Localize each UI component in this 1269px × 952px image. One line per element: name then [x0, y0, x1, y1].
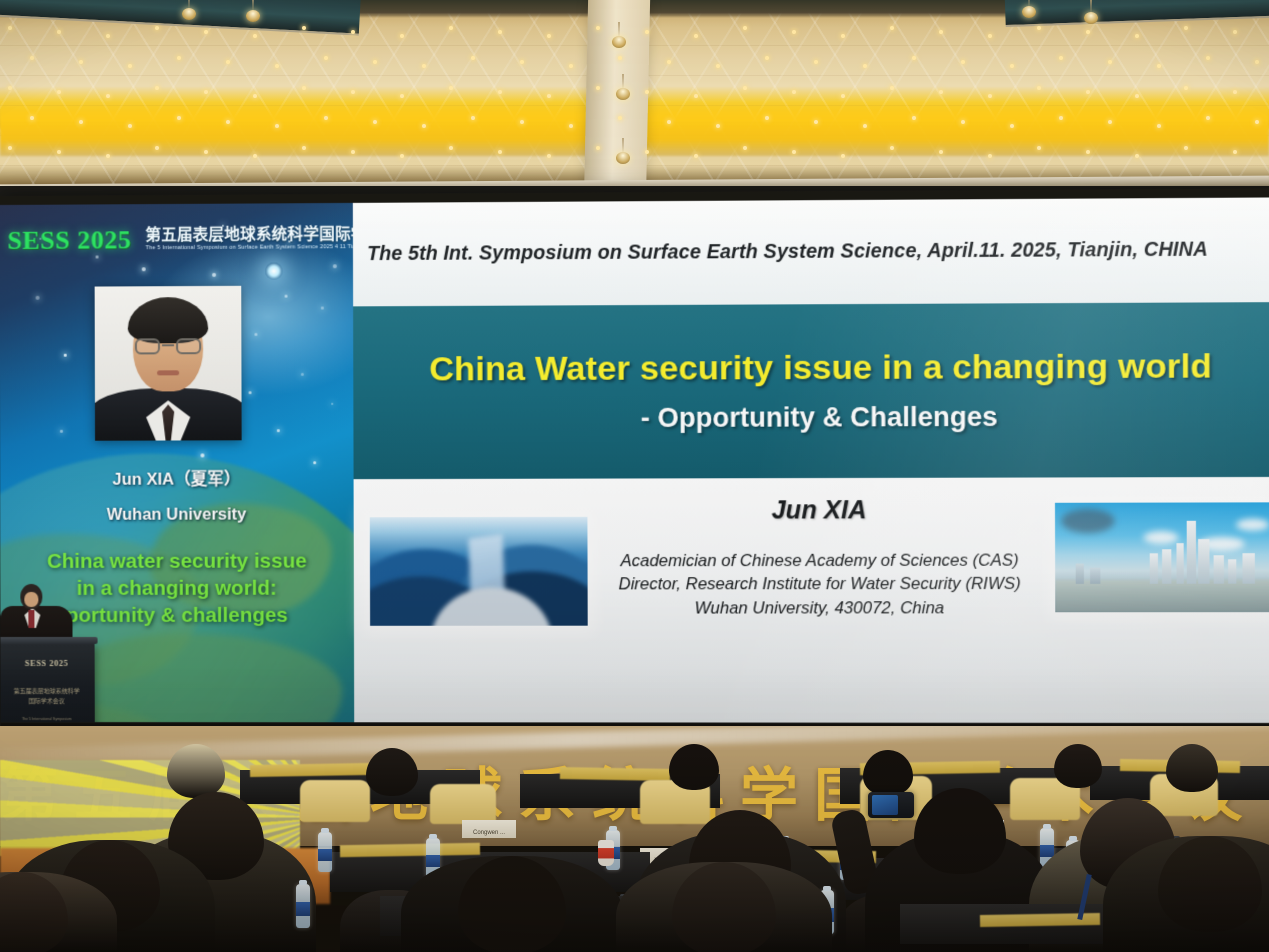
ceiling-spotlight — [1022, 6, 1036, 18]
ceiling-light-dot — [400, 94, 404, 98]
presentation-slide: The 5th Int. Symposium on Surface Earth … — [353, 196, 1269, 723]
ceiling-light-dot — [596, 146, 600, 150]
slide-header: The 5th Int. Symposium on Surface Earth … — [353, 196, 1269, 306]
ceiling-light-dot — [57, 150, 61, 154]
ceiling-light-dot — [618, 116, 622, 120]
star-dot — [333, 264, 337, 268]
cover-title-line-1: China water security issue — [0, 547, 354, 575]
ceiling-light-dot — [792, 30, 796, 34]
cloud-3 — [1236, 519, 1269, 531]
star-dot — [249, 391, 252, 394]
ceiling-light-dot — [275, 124, 279, 128]
ceiling-light-dot — [177, 56, 181, 60]
slide-body: Jun XIA Academician of Chinese Academy o… — [354, 477, 1269, 723]
city-skyline-image — [1055, 502, 1269, 612]
ceiling-light-dot — [449, 26, 453, 30]
ceiling-light-dot — [422, 124, 426, 128]
cover-speaker-name: Jun XIA（夏军） — [0, 465, 354, 490]
ceiling-spotlight — [246, 10, 260, 22]
ceiling-light-dot — [373, 60, 377, 64]
ceiling-light-dot — [400, 154, 404, 158]
audience-head — [167, 744, 225, 798]
ceiling-light-dot — [569, 64, 573, 68]
ceiling-light-dot — [373, 120, 377, 124]
ceiling-light-dot — [204, 30, 208, 34]
ceiling-light-dot — [302, 86, 306, 90]
projection-screen: SESS 2025 第五届表层地球系统科学国际学术会议 The 5 Intern… — [0, 188, 1269, 731]
ceiling-light-dot — [912, 116, 916, 120]
audience-head — [914, 788, 1006, 874]
star-dot — [254, 333, 257, 336]
ceiling-light-dot — [961, 120, 965, 124]
audience-member-bottom-5 — [0, 872, 117, 952]
ceiling-light-dot — [400, 34, 404, 38]
ceiling-light-dot — [177, 116, 181, 120]
ceiling-light-dot — [645, 90, 649, 94]
ceiling-light-dot — [471, 116, 475, 120]
water-bottle — [318, 832, 332, 872]
ceiling-light-dot — [498, 150, 502, 154]
portrait-hair — [128, 297, 208, 343]
ceiling-spotlight — [1084, 12, 1098, 24]
star-dot — [285, 295, 288, 298]
ceiling-light-dot — [890, 26, 894, 30]
ceiling-light-dot — [667, 60, 671, 64]
audience-head — [1166, 744, 1218, 792]
ceiling-spotlight — [616, 88, 630, 100]
ceiling-light-dot — [667, 120, 671, 124]
ceiling-light-dot — [275, 64, 279, 68]
ceiling-light-dot — [596, 26, 600, 30]
ceiling-light-dot — [351, 90, 355, 94]
ceiling-spotlight — [612, 36, 626, 48]
ceiling-light-dot — [128, 124, 132, 128]
portrait-glasses-bridge — [162, 344, 174, 346]
ceiling-light-dot — [1108, 60, 1112, 64]
ceiling-light-dot — [618, 56, 622, 60]
ceiling-light-dot — [792, 90, 796, 94]
sess-logo-text: 第五届表层地球系统科学国际学术会议 The 5 International Sy… — [145, 227, 354, 253]
star-dot — [60, 430, 63, 433]
ceiling-light-dot — [1157, 64, 1161, 68]
ceiling-light-dot — [988, 154, 992, 158]
tower-3 — [1198, 539, 1209, 584]
ceiling-light-dot — [8, 26, 12, 30]
ceiling-light-dot — [765, 116, 769, 120]
river-water — [1055, 579, 1269, 612]
ceiling-light-dot — [155, 86, 159, 90]
slide-affiliation-1: Academician of Chinese Academy of Scienc… — [555, 549, 1086, 573]
ceiling-light-dot — [1233, 150, 1237, 154]
ceiling-light-dot — [302, 26, 306, 30]
cloud-dark — [1061, 509, 1115, 533]
star-dot — [277, 429, 280, 432]
starfield — [0, 202, 353, 204]
ceiling-light-dot — [8, 86, 12, 90]
podium-logo: SESS 2025 — [0, 658, 95, 668]
ceiling-light-dot — [226, 60, 230, 64]
slide-affiliation-2: Director, Research Institute for Water S… — [555, 573, 1086, 597]
audience-head — [669, 744, 719, 790]
ceiling-light-dot — [1135, 154, 1139, 158]
slide-author-name: Jun XIA — [554, 496, 1085, 526]
ceiling-light-dot — [226, 120, 230, 124]
sess-logo-chinese: 第五届表层地球系统科学国际学术会议 — [145, 227, 354, 244]
water-bottle — [296, 884, 310, 928]
ceiling-light-dot — [694, 34, 698, 38]
ceiling-light-dot — [449, 86, 453, 90]
ceiling-light-dot — [155, 146, 159, 150]
ceiling-light-dot — [694, 94, 698, 98]
star-dot — [142, 267, 146, 271]
ceiling-light-dot — [422, 64, 426, 68]
ceiling-light-dot — [498, 30, 502, 34]
ceiling-light-dot — [324, 116, 328, 120]
ceiling-spotlight — [616, 152, 630, 164]
ceiling-light-dot — [1184, 86, 1188, 90]
ceiling-light-dot — [841, 154, 845, 158]
ceiling-light-dot — [471, 56, 475, 60]
ceiling-light-dot — [449, 146, 453, 150]
ceiling-light-dot — [792, 150, 796, 154]
star-dot — [212, 273, 216, 277]
podium-cn-line-2: 国际学术会议 — [0, 698, 95, 708]
ceiling-light-dot — [743, 86, 747, 90]
ceiling-light-dot — [351, 30, 355, 34]
ceiling-spotlight — [182, 8, 196, 20]
ceiling-light-dot — [988, 94, 992, 98]
ceiling-light-dot — [547, 94, 551, 98]
ceiling-light-dot — [1184, 146, 1188, 150]
audience-member-bottom-3 — [616, 862, 832, 952]
star-dot — [331, 403, 333, 405]
slide-affiliation-3: Wuhan University, 430072, China — [555, 597, 1086, 621]
ceiling-light-dot — [302, 146, 306, 150]
ceiling-light-dot — [912, 56, 916, 60]
star-dot — [301, 373, 304, 376]
ceiling-light-dot — [155, 26, 159, 30]
tower-4 — [1150, 553, 1158, 583]
sess-logo: SESS 2025 第五届表层地球系统科学国际学术会议 The 5 Intern… — [7, 216, 347, 264]
ceiling-light-dot — [79, 60, 83, 64]
podium-chinese-text: 第五届表层地球系统科学 国际学术会议 — [0, 688, 95, 707]
ceiling-light-dot — [498, 90, 502, 94]
audience: Congwen ...Yong P...Huade ... — [0, 744, 1269, 952]
ceiling-light-dot — [1233, 90, 1237, 94]
bottle-cap — [609, 826, 617, 831]
ceiling-light-dot — [30, 116, 34, 120]
ceiling-light-dot — [253, 154, 257, 158]
slide-title-main: China Water security issue in a changing… — [429, 347, 1212, 389]
star-dot — [36, 296, 40, 300]
ceiling-light-dot — [569, 124, 573, 128]
podium: SESS 2025 第五届表层地球系统科学 国际学术会议 The 5 Inter… — [0, 642, 95, 722]
ceiling-light-dot — [1135, 94, 1139, 98]
tower-spire — [1187, 521, 1196, 584]
bottle-cap — [429, 834, 437, 839]
ceiling-light-dot — [1086, 90, 1090, 94]
tower-5 — [1162, 549, 1171, 584]
ceiling-light-dot — [1037, 146, 1041, 150]
ceiling-light-dot — [106, 154, 110, 158]
ceiling-light-dot — [1010, 64, 1014, 68]
name-placard: Congwen ... — [462, 820, 516, 838]
ceiling-light-dot — [1086, 30, 1090, 34]
ceiling-light-dot — [106, 94, 110, 98]
ceiling-light-dot — [645, 30, 649, 34]
portrait-mouth — [157, 370, 179, 375]
ceiling-light-dot — [1135, 34, 1139, 38]
slide-cover-panel: SESS 2025 第五届表层地球系统科学国际学术会议 The 5 Intern… — [0, 202, 354, 722]
ceiling-light-dot — [841, 34, 845, 38]
ceiling-light-dot — [765, 56, 769, 60]
ceiling-light-dot — [596, 86, 600, 90]
ceiling-light-dot — [128, 64, 132, 68]
ceiling-light-dot — [1206, 56, 1210, 60]
podium-english-text: The 5 International Symposium on Surface… — [0, 716, 95, 722]
ceiling-light-dot — [1037, 26, 1041, 30]
ceiling-light-dot — [961, 60, 965, 64]
ceiling-light-dot — [1010, 124, 1014, 128]
bottle-cap — [321, 828, 329, 833]
ceiling-light-dot — [988, 34, 992, 38]
ceiling-light-dot — [1206, 116, 1210, 120]
podium-top — [0, 637, 98, 644]
star-dot — [64, 354, 67, 357]
ceiling-light-dot — [694, 154, 698, 158]
ceiling-light-dot — [57, 30, 61, 34]
ceiling-light-dot — [743, 146, 747, 150]
ceiling-light-dot — [204, 150, 208, 154]
ceiling-light-dot — [1059, 56, 1063, 60]
live-speaker-face — [24, 592, 38, 607]
sess-logo-mark: SESS 2025 — [7, 225, 131, 256]
tower-2 — [1176, 543, 1183, 584]
ceiling-light-dot — [1037, 86, 1041, 90]
sess-logo-english: The 5 International Symposium on Surface… — [145, 245, 354, 252]
ceiling — [0, 0, 1269, 196]
ceiling-light-dot — [1108, 120, 1112, 124]
ceiling-light-dot — [645, 150, 649, 154]
ceiling-light-dot — [79, 120, 83, 124]
ceiling-light-dot — [841, 94, 845, 98]
ceiling-light-dot — [1184, 26, 1188, 30]
ceiling-light-dot — [716, 64, 720, 68]
bright-star-icon — [265, 263, 282, 280]
ceiling-light-dot — [57, 90, 61, 94]
ceiling-light-dot — [863, 124, 867, 128]
tower-8 — [1242, 553, 1254, 583]
ceiling-light-dot — [1233, 30, 1237, 34]
ceiling-light-dot — [547, 154, 551, 158]
ceiling-light-dot — [1086, 150, 1090, 154]
ceiling-light-dot — [863, 64, 867, 68]
audience-head — [1054, 744, 1102, 788]
slide-author-block: Jun XIA Academician of Chinese Academy o… — [554, 496, 1085, 621]
podium-cn-line-1: 第五届表层地球系统科学 — [0, 688, 95, 698]
tower-left-1 — [1076, 563, 1084, 583]
slide-title-band: China Water security issue in a changing… — [353, 302, 1269, 479]
portrait-glasses-left — [135, 338, 160, 354]
cloud-1 — [1143, 531, 1178, 544]
ceiling-light-dot — [939, 30, 943, 34]
star-dot — [321, 307, 324, 310]
portrait-glasses-right — [176, 338, 201, 354]
slide-header-text: The 5th Int. Symposium on Surface Earth … — [367, 238, 1208, 266]
ceiling-light-dot — [814, 60, 818, 64]
ceiling-light-dot — [939, 150, 943, 154]
ceiling-light-dot — [8, 146, 12, 150]
audience-head — [366, 748, 418, 796]
ceiling-light-dot — [1255, 120, 1259, 124]
star-dot — [313, 461, 316, 464]
ceiling-light-dot — [939, 90, 943, 94]
ceiling-light-dot — [1059, 116, 1063, 120]
ceiling-light-dot — [520, 120, 524, 124]
ceiling-light-dot — [547, 34, 551, 38]
ceiling-light-dot — [520, 60, 524, 64]
tower-6 — [1214, 555, 1224, 583]
tower-7 — [1228, 559, 1236, 583]
ceiling-light-dot — [253, 34, 257, 38]
audience-member-bottom-2 — [401, 856, 623, 952]
bottle-cap — [299, 880, 307, 885]
speaker-portrait — [95, 286, 242, 441]
ceiling-light-dot — [1157, 124, 1161, 128]
slide-title-sub: - Opportunity & Challenges — [641, 402, 998, 434]
ceiling-light-dot — [324, 56, 328, 60]
tower-left-2 — [1090, 568, 1100, 584]
audience-member-bottom-4 — [1103, 836, 1269, 952]
cover-affiliation: Wuhan University — [0, 505, 354, 525]
ceiling-light-dot — [890, 86, 894, 90]
ceiling-light-dot — [351, 150, 355, 154]
ceiling-light-dot — [30, 56, 34, 60]
ceiling-light-dot — [204, 90, 208, 94]
live-speaker-tie — [28, 610, 34, 628]
ceiling-light-dot — [716, 124, 720, 128]
podium-area: SESS 2025 第五届表层地球系统科学 国际学术会议 The 5 Inter… — [0, 582, 105, 722]
ceiling-light-dot — [890, 146, 894, 150]
ceiling-light-dot — [814, 120, 818, 124]
ceiling-light-dot — [743, 26, 747, 30]
ceiling-light-dot — [106, 34, 110, 38]
conference-photo-scene: SESS 2025 第五届表层地球系统科学国际学术会议 The 5 Intern… — [0, 0, 1269, 952]
ceiling-light-dot — [253, 94, 257, 98]
ceiling-light-dot — [1255, 60, 1259, 64]
